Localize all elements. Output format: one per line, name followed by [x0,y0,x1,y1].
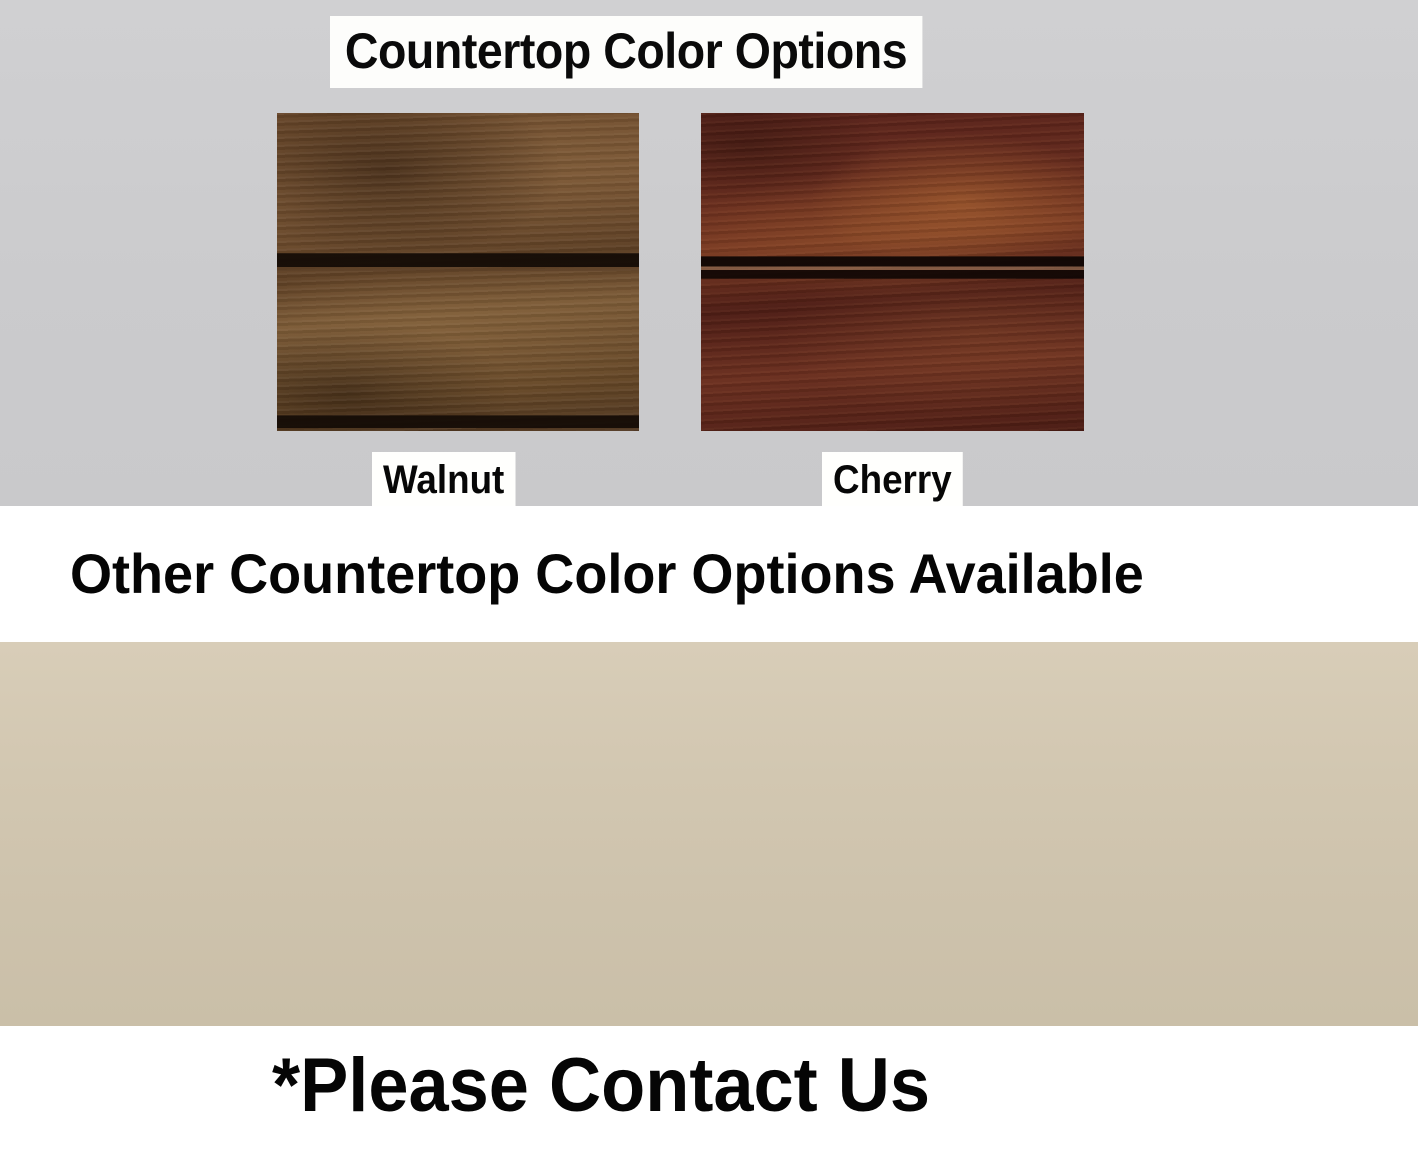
featured-colors-section: Countertop Color Options Walnut Cherry [0,0,1418,506]
walnut-label: Walnut [372,452,515,510]
other-colors-section: Burgundy Antique White Pewter Black Rich… [0,642,1418,1026]
cherry-swatch[interactable] [701,113,1084,431]
cherry-label: Cherry [822,452,963,510]
cherry-wood-grain-texture [701,113,1084,431]
subtitle-heading: Other Countertop Color Options Available [70,546,1144,602]
walnut-swatch[interactable] [277,113,639,431]
page-title: Countertop Color Options [330,16,922,88]
contact-us-note: *Please Contact Us [272,1048,930,1124]
walnut-wood-grain-texture [277,113,639,431]
countertop-color-options-page: Countertop Color Options Walnut Cherry O… [0,0,1418,1166]
